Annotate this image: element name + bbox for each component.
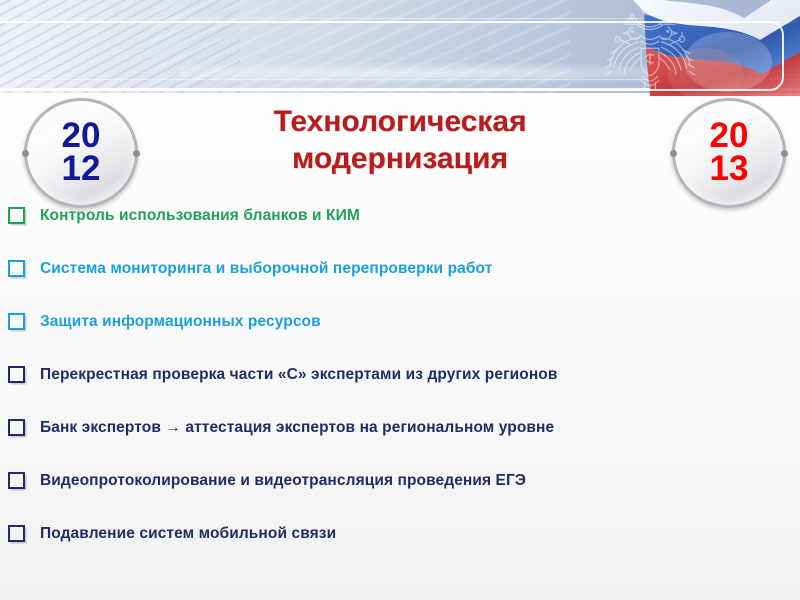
hollow-square-bullet-icon <box>8 206 40 229</box>
badge-nub <box>22 150 29 157</box>
hollow-square-bullet-icon <box>8 259 40 282</box>
slide-title: Технологическая модернизация <box>172 104 628 177</box>
year-badge-2013-bottom: 13 <box>710 153 749 186</box>
slide-title-line-1: Технологическая <box>172 104 628 141</box>
double-headed-eagle-icon <box>596 2 704 96</box>
list-item: Подавление систем мобильной связи <box>0 524 800 577</box>
hollow-square-bullet-icon <box>8 524 40 547</box>
bullet-list: Контроль использования бланков и КИМ Сис… <box>0 206 800 577</box>
hollow-square-bullet-icon <box>8 418 40 441</box>
list-item: Видеопротоколирование и видеотрансляция … <box>0 471 800 524</box>
badge-nub <box>133 150 140 157</box>
badge-nub <box>781 150 788 157</box>
presentation-slide: 20 12 20 13 Технологическая модернизация… <box>0 0 800 600</box>
list-item-label: Контроль использования бланков и КИМ <box>40 206 800 226</box>
badge-nub <box>670 150 677 157</box>
year-badge-2012: 20 12 <box>24 98 138 208</box>
list-item-label: Банк экспертов → аттестация экспертов на… <box>40 418 800 438</box>
list-item: Контроль использования бланков и КИМ <box>0 206 800 259</box>
list-item-label: Защита информационных ресурсов <box>40 312 800 332</box>
list-item-label: Система мониторинга и выборочной перепро… <box>40 259 800 279</box>
list-item: Банк экспертов → аттестация экспертов на… <box>0 418 800 471</box>
eagle-svg <box>596 2 704 96</box>
list-item: Защита информационных ресурсов <box>0 312 800 365</box>
slide-title-line-2: модернизация <box>172 141 628 178</box>
list-item: Система мониторинга и выборочной перепро… <box>0 259 800 312</box>
year-badge-2013: 20 13 <box>672 98 786 208</box>
list-item: Перекрестная проверка части «С» эксперта… <box>0 365 800 418</box>
hollow-square-bullet-icon <box>8 312 40 335</box>
list-item-label: Видеопротоколирование и видеотрансляция … <box>40 471 800 491</box>
hollow-square-bullet-icon <box>8 471 40 494</box>
year-badge-2012-bottom: 12 <box>62 153 101 186</box>
list-item-label: Подавление систем мобильной связи <box>40 524 800 544</box>
hollow-square-bullet-icon <box>8 365 40 388</box>
list-item-label: Перекрестная проверка части «С» эксперта… <box>40 365 800 385</box>
slide-header-band <box>0 0 800 96</box>
